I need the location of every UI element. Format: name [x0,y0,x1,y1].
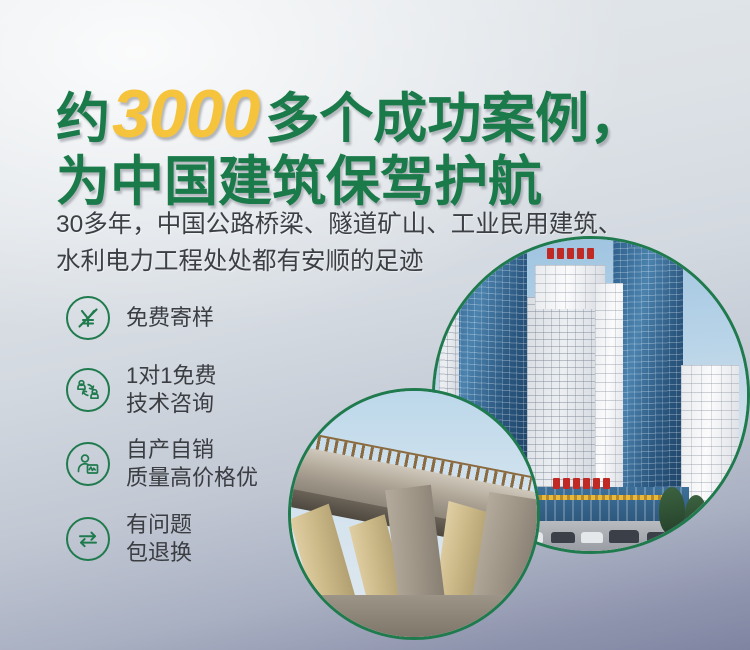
bridge-scene [291,391,537,637]
street-tree [685,495,707,535]
subtitle: 30多年，中国公路桥梁、隧道矿山、工业民用建筑、 水利电力工程处处都有安顺的足迹 [56,206,716,280]
feature-text: 自产自销 质量高价格优 [126,436,258,492]
construction-ground [291,595,537,637]
feature-text: 1对1免费 技术咨询 [126,362,216,418]
street-tree [659,487,685,535]
parked-car [551,532,575,543]
subtitle-line-2: 水利电力工程处处都有安顺的足迹 [56,243,716,280]
feature-line-1: 有问题 [126,511,192,539]
exchange-arrows-icon [66,517,110,561]
bridge-underside-photo [288,388,540,640]
parked-car [581,532,603,543]
feature-line-1: 1对1免费 [126,362,216,390]
feature-item-return-exchange[interactable]: 有问题 包退换 [66,511,258,567]
feature-line-1: 自产自销 [126,436,258,464]
feature-line-1: 免费寄样 [126,304,214,332]
headline-number: 3000 [110,76,265,152]
feature-line-2: 质量高价格优 [126,464,258,492]
feature-line-2: 包退换 [126,539,192,567]
headline-prefix: 约 [56,89,110,149]
photo-circle-ring [288,388,540,640]
subtitle-line-1: 30多年，中国公路桥梁、隧道矿山、工业民用建筑、 [56,206,716,243]
feature-item-free-sample[interactable]: 免费寄样 [66,296,258,340]
person-chart-icon [66,442,110,486]
promo-banner: 约3000多个成功案例， 为中国建筑保驾护航 30多年，中国公路桥梁、隧道矿山、… [0,0,750,650]
headline: 约3000多个成功案例， 为中国建筑保驾护航 [56,78,716,211]
feature-list: 免费寄样 1对1免费 技术咨询 [66,296,258,581]
parked-car [647,532,667,543]
parked-car [609,530,639,543]
headline-line-2: 为中国建筑保驾护航 [56,154,716,211]
feature-text: 免费寄样 [126,304,214,332]
feature-item-consultation[interactable]: 1对1免费 技术咨询 [66,362,258,418]
headline-line-1: 约3000多个成功案例， [56,78,716,150]
free-yen-icon [66,296,110,340]
feature-line-2: 技术咨询 [126,390,216,418]
headline-suffix: 多个成功案例， [265,89,643,149]
feature-text: 有问题 包退换 [126,511,192,567]
feature-item-quality-price[interactable]: 自产自销 质量高价格优 [66,436,258,492]
two-person-swap-icon [66,368,110,412]
entrance-gold-strip [521,495,671,500]
